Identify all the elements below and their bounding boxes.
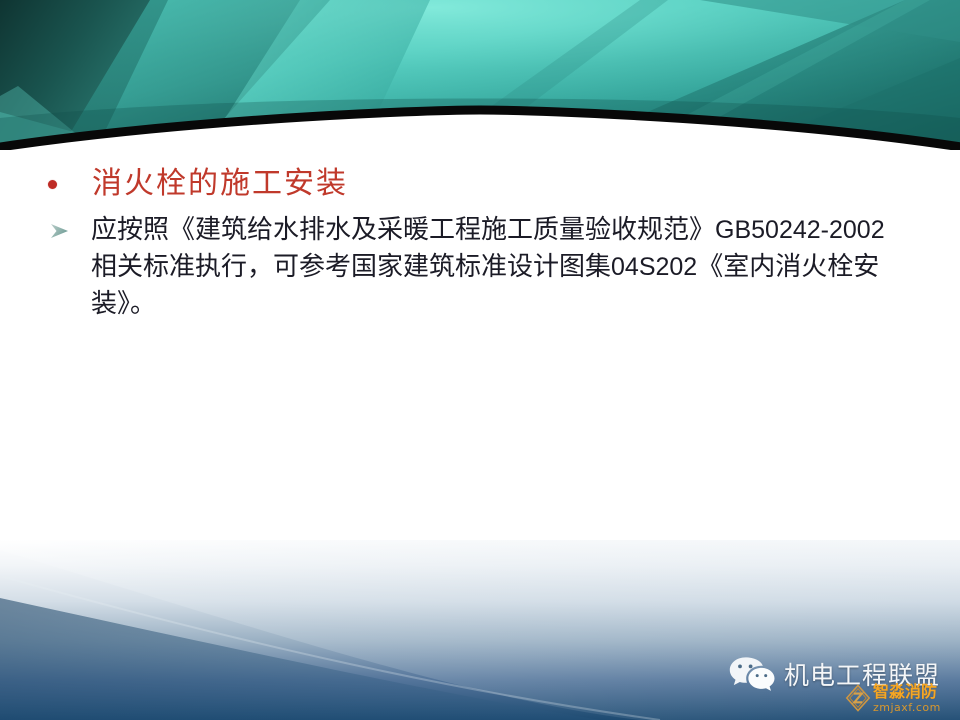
site-watermark: 智淼消防 zmjaxf.com bbox=[845, 681, 941, 715]
para-seg-1-standard-code: GB50242-2002 bbox=[715, 216, 885, 244]
para-seg-0: 应按照《建筑给水排水及采暖工程施工质量验收规范》 bbox=[91, 215, 715, 245]
dot-bullet-icon bbox=[48, 180, 57, 189]
header-banner-graphic bbox=[0, 0, 960, 150]
para-seg-2: 相关标准执行，可参考国家建筑标准设计图集 bbox=[91, 252, 611, 282]
watermark-texts: 智淼消防 zmjaxf.com bbox=[873, 684, 941, 713]
slide-canvas: 消火栓的施工安装 应按照《建筑给水排水及采暖工程施工质量验收规范》GB502 bbox=[0, 0, 960, 720]
watermark-title: 智淼消防 bbox=[873, 684, 941, 700]
zhimiao-logo-icon bbox=[845, 684, 871, 712]
watermark-url: zmjaxf.com bbox=[873, 702, 941, 713]
arrow-bullet-icon bbox=[50, 223, 70, 239]
heading-block: 消火栓的施工安装 bbox=[48, 165, 348, 203]
paragraph-text: 应按照《建筑给水排水及采暖工程施工质量验收规范》GB50242-2002相关标准… bbox=[91, 212, 901, 323]
page-title: 消火栓的施工安装 bbox=[92, 165, 348, 203]
wechat-icon bbox=[728, 655, 776, 693]
para-seg-3-atlas-code: 04S202 bbox=[611, 253, 697, 281]
paragraph-block: 应按照《建筑给水排水及采暖工程施工质量验收规范》GB50242-2002相关标准… bbox=[50, 212, 920, 323]
slide-content: 消火栓的施工安装 应按照《建筑给水排水及采暖工程施工质量验收规范》GB502 bbox=[0, 150, 960, 550]
